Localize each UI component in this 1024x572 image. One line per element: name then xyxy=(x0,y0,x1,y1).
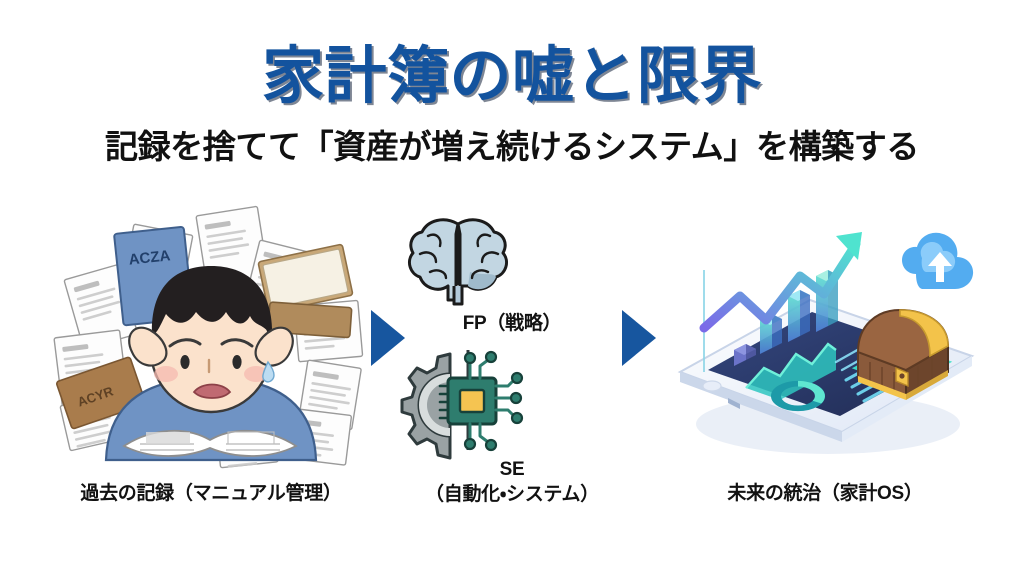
page-subtitle: 記録を捨てて「資産が増え続けるシステム」を構築する xyxy=(0,130,1024,163)
stage-future: 未来の統治（家計OS） xyxy=(660,210,990,540)
se-block: SE （自動化・システム） xyxy=(404,348,620,507)
flow-arrow-2-icon xyxy=(622,310,656,366)
stage-transform: FP（戦略） xyxy=(404,210,620,540)
gear-circuit-chip-icon xyxy=(404,348,620,452)
se-label-line2: （自動化・システム） xyxy=(404,483,620,508)
stage-future-caption: 未来の統治（家計OS） xyxy=(660,482,990,506)
fp-block: FP（戦略） xyxy=(404,214,620,337)
slide-canvas: 家計簿の嘘と限界 記録を捨てて「資産が増え続けるシステム」を構築する xyxy=(0,0,1024,572)
flow-arrow-1-icon xyxy=(371,310,405,366)
fp-label: FP（戦略） xyxy=(404,312,620,337)
stage-past: ACYR ACZA xyxy=(46,210,376,540)
stage-past-caption: 過去の記録（マニュアル管理） xyxy=(46,482,376,506)
brain-icon xyxy=(404,214,620,306)
se-label-line1: SE xyxy=(500,459,525,480)
header: 家計簿の嘘と限界 記録を捨てて「資産が増え続けるシステム」を構築する xyxy=(0,46,1024,163)
isometric-tablet-dashboard-with-treasure-chest xyxy=(660,210,990,460)
page-title: 家計簿の嘘と限界 xyxy=(0,46,1024,108)
stressed-person-with-paperwork-illustration: ACYR ACZA xyxy=(46,210,376,460)
flow-diagram: ACYR ACZA xyxy=(0,210,1024,540)
se-label: SE （自動化・システム） xyxy=(404,458,620,507)
